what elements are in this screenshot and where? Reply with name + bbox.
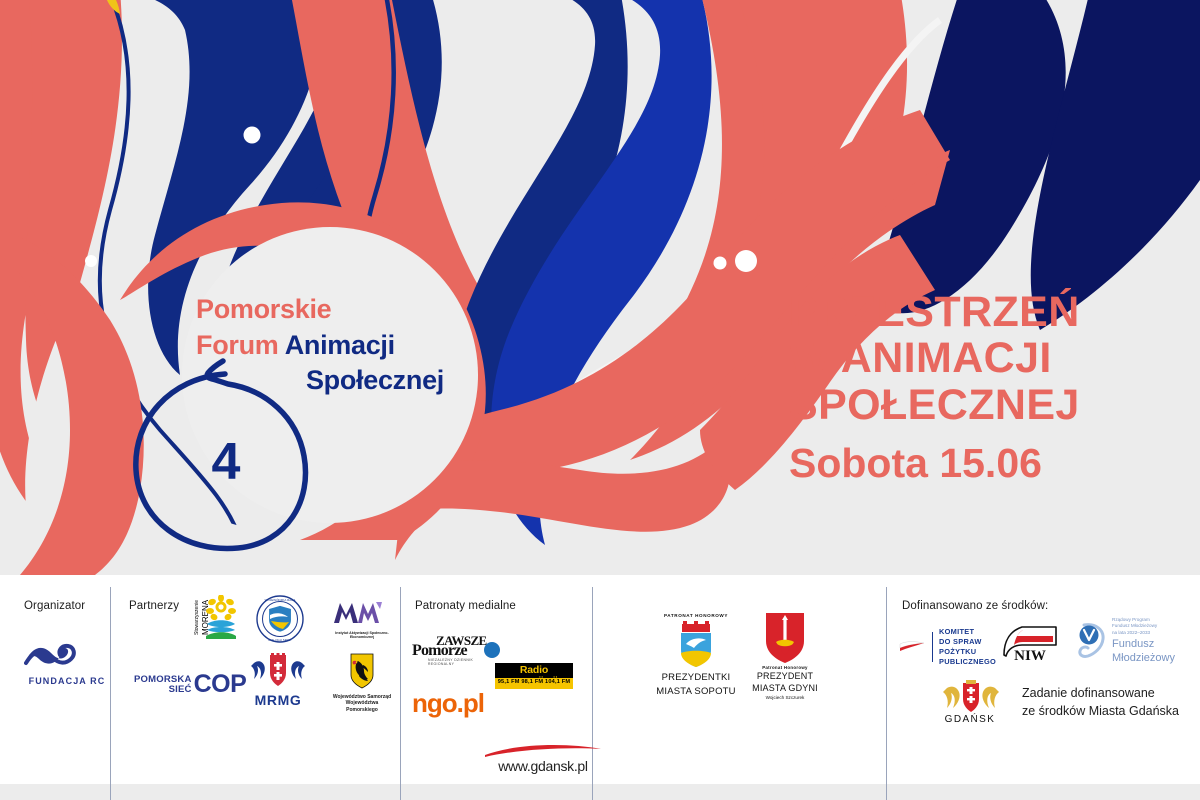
decorative-dot [714,257,727,270]
mw-monogram-icon [332,601,384,625]
event-date: Sobota 15.06 [789,442,1189,485]
decorative-dot [85,255,97,267]
gdansk-coat-of-arms-icon [941,680,999,714]
headline-line-1: PRZESTRZEŃ [789,289,1189,335]
footer-divider [886,587,887,784]
decorative-dot [244,127,261,144]
sopot-coat-of-arms-icon [674,620,718,668]
polish-flag-icon [898,640,926,654]
label-dofinansowano: Dofinansowano ze środków: [902,600,1048,612]
logo-zawsze-pomorze: ZAWSZE Pomorze NIEZALEŻNY DZIENNIK REGIO… [412,633,498,663]
fundusz-small-text: Rządowy Program Fundusz Młodzieżowy na l… [1112,617,1175,636]
gdansk-pl-swoosh-icon [483,743,603,759]
logo-patronat-sopot: PATRONAT HONOROWY PREZYDENTKI MIASTA SOP… [655,613,737,700]
edition-number: 4 [186,436,266,488]
logo-patronat-gdynia: Patronat Honorowy PREZYDENT MIASTA GDYNI… [748,611,822,700]
niw-flag-mark-icon: NIW [998,623,1062,663]
gdynia-coat-of-arms-icon [764,611,806,663]
cop-line-2: SIEĆ [134,685,192,695]
logo-samorzad-wojewodztwa-pomorskiego: Województwo Samorząd Województwa Pomorsk… [330,653,394,713]
decorative-dot [735,250,757,272]
mw-caption: Instytut Aktywizacji Społeczno-Ekonomicz… [332,631,392,640]
logo-mw-instytut: Instytut Aktywizacji Społeczno-Ekonomicz… [332,601,392,640]
logotype-line-forum: Forum [196,330,279,360]
headline-line-2: W ANIMACJI [789,335,1189,381]
logotype-line-pomorskie: Pomorskie [196,294,331,324]
footer-logos-bar: Organizator Partnerzy Patronaty medialne… [0,575,1200,784]
mrmg-wordmark: MRMG [250,692,306,708]
mrmg-crest-icon [250,653,306,687]
sopot-caption: PREZYDENTKI MIASTA SOPOTU [655,671,737,700]
logo-morena: Stowarzyszenie MORENA [192,595,238,639]
logotype-line-animacji: Animacji [285,330,395,360]
svg-text:WOJEWÓDZKA RADA: WOJEWÓDZKA RADA [265,597,296,602]
logo-mrmg: MRMG [250,653,306,708]
label-organizator: Organizator [24,600,85,612]
bottom-divider [400,784,401,800]
logo-radio-kaszebe: Radio KASZËBË 95,1 FM 98,1 FM 104,1 FM [495,663,573,689]
fundacja-rc-wave-icon [24,643,88,669]
logo-pomorska-siec-cop: POMORSKA SIEĆ COP [134,670,246,699]
logo-miasto-gdansk: GDAŃSK Zadanie dofinansowane ze środków … [938,680,1179,725]
cop-line-1: POMORSKA [134,675,192,685]
logo-niw: NIW [998,623,1064,668]
bottom-divider [592,784,593,800]
gdansk-funding-claim: Zadanie dofinansowane ze środków Miasta … [1022,685,1179,720]
wojewodztwo-caption: Województwo Samorząd Województwa Pomorsk… [330,694,394,713]
logotype-line-spolecznej: Społecznej [306,365,444,395]
bottom-divider [110,784,111,800]
svg-text:DIALOGU SPOŁ.: DIALOGU SPOŁ. [268,638,291,642]
rada-dialogu-crest-icon: WOJEWÓDZKA RADA DIALOGU SPOŁ. [256,595,304,643]
logo-komitet-pozytku-publicznego: KOMITET DO SPRAW POŻYTKU PUBLICZNEGO [898,627,996,667]
komitet-divider [932,632,933,662]
fundusz-big-text: Fundusz Młodzieżowy [1112,638,1175,666]
bottom-strip [0,784,1200,800]
label-partnerzy: Partnerzy [129,600,179,612]
gdansk-pl-wordmark: www.gdansk.pl [483,758,603,774]
komitet-wordmark: KOMITET DO SPRAW POŻYTKU PUBLICZNEGO [939,627,996,667]
morena-sun-flower-icon [204,595,238,639]
gdynia-president-name: Wojciech Szczurek [748,695,822,700]
footer-divider [400,587,401,784]
zawsze-pomorze-subline: NIEZALEŻNY DZIENNIK REGIONALNY [428,658,498,666]
cop-abbr: COP [194,670,247,699]
logo-wojewodzka-rada-dialogu: WOJEWÓDZKA RADA DIALOGU SPOŁ. [256,595,304,648]
morena-small-text: Stowarzyszenie [194,600,200,635]
fundacja-rc-wordmark: FUNDACJA RC [24,676,110,686]
logo-fundacja-rc: FUNDACJA RC [24,643,110,686]
gdansk-wordmark: GDAŃSK [938,714,1002,725]
pomorskie-griffin-crest-icon [330,653,394,689]
zawsze-pomorze-dot-icon [484,642,500,658]
bottom-divider [886,784,887,800]
sopot-patronat-label: PATRONAT HONOROWY [655,613,737,618]
svg-text:NIW: NIW [1014,648,1046,663]
gdynia-caption: PREZYDENT MIASTA GDYNI [748,670,822,694]
footer-divider [110,587,111,784]
fundusz-mlodziezowy-v-icon [1074,621,1108,661]
label-patronaty-medialne: Patronaty medialne [415,600,516,612]
headline-block: PRZESTRZEŃ W ANIMACJI SPOŁECZNEJ Sobota … [789,289,1189,485]
headline-line-3: SPOŁECZNEJ [789,382,1189,428]
logo-ngo-pl: ngo.pl [412,688,484,719]
poster: Pomorskie Forum Animacji Społecznej 4 PR… [0,0,1200,800]
forum-logotype: Pomorskie Forum Animacji Społecznej [196,292,456,399]
logo-gdansk-pl: www.gdansk.pl [483,743,603,775]
radio-kaszebe-frequencies: 95,1 FM 98,1 FM 104,1 FM [495,679,573,685]
logo-fundusz-mlodziezowy: Rządowy Program Fundusz Młodzieżowy na l… [1074,617,1175,666]
